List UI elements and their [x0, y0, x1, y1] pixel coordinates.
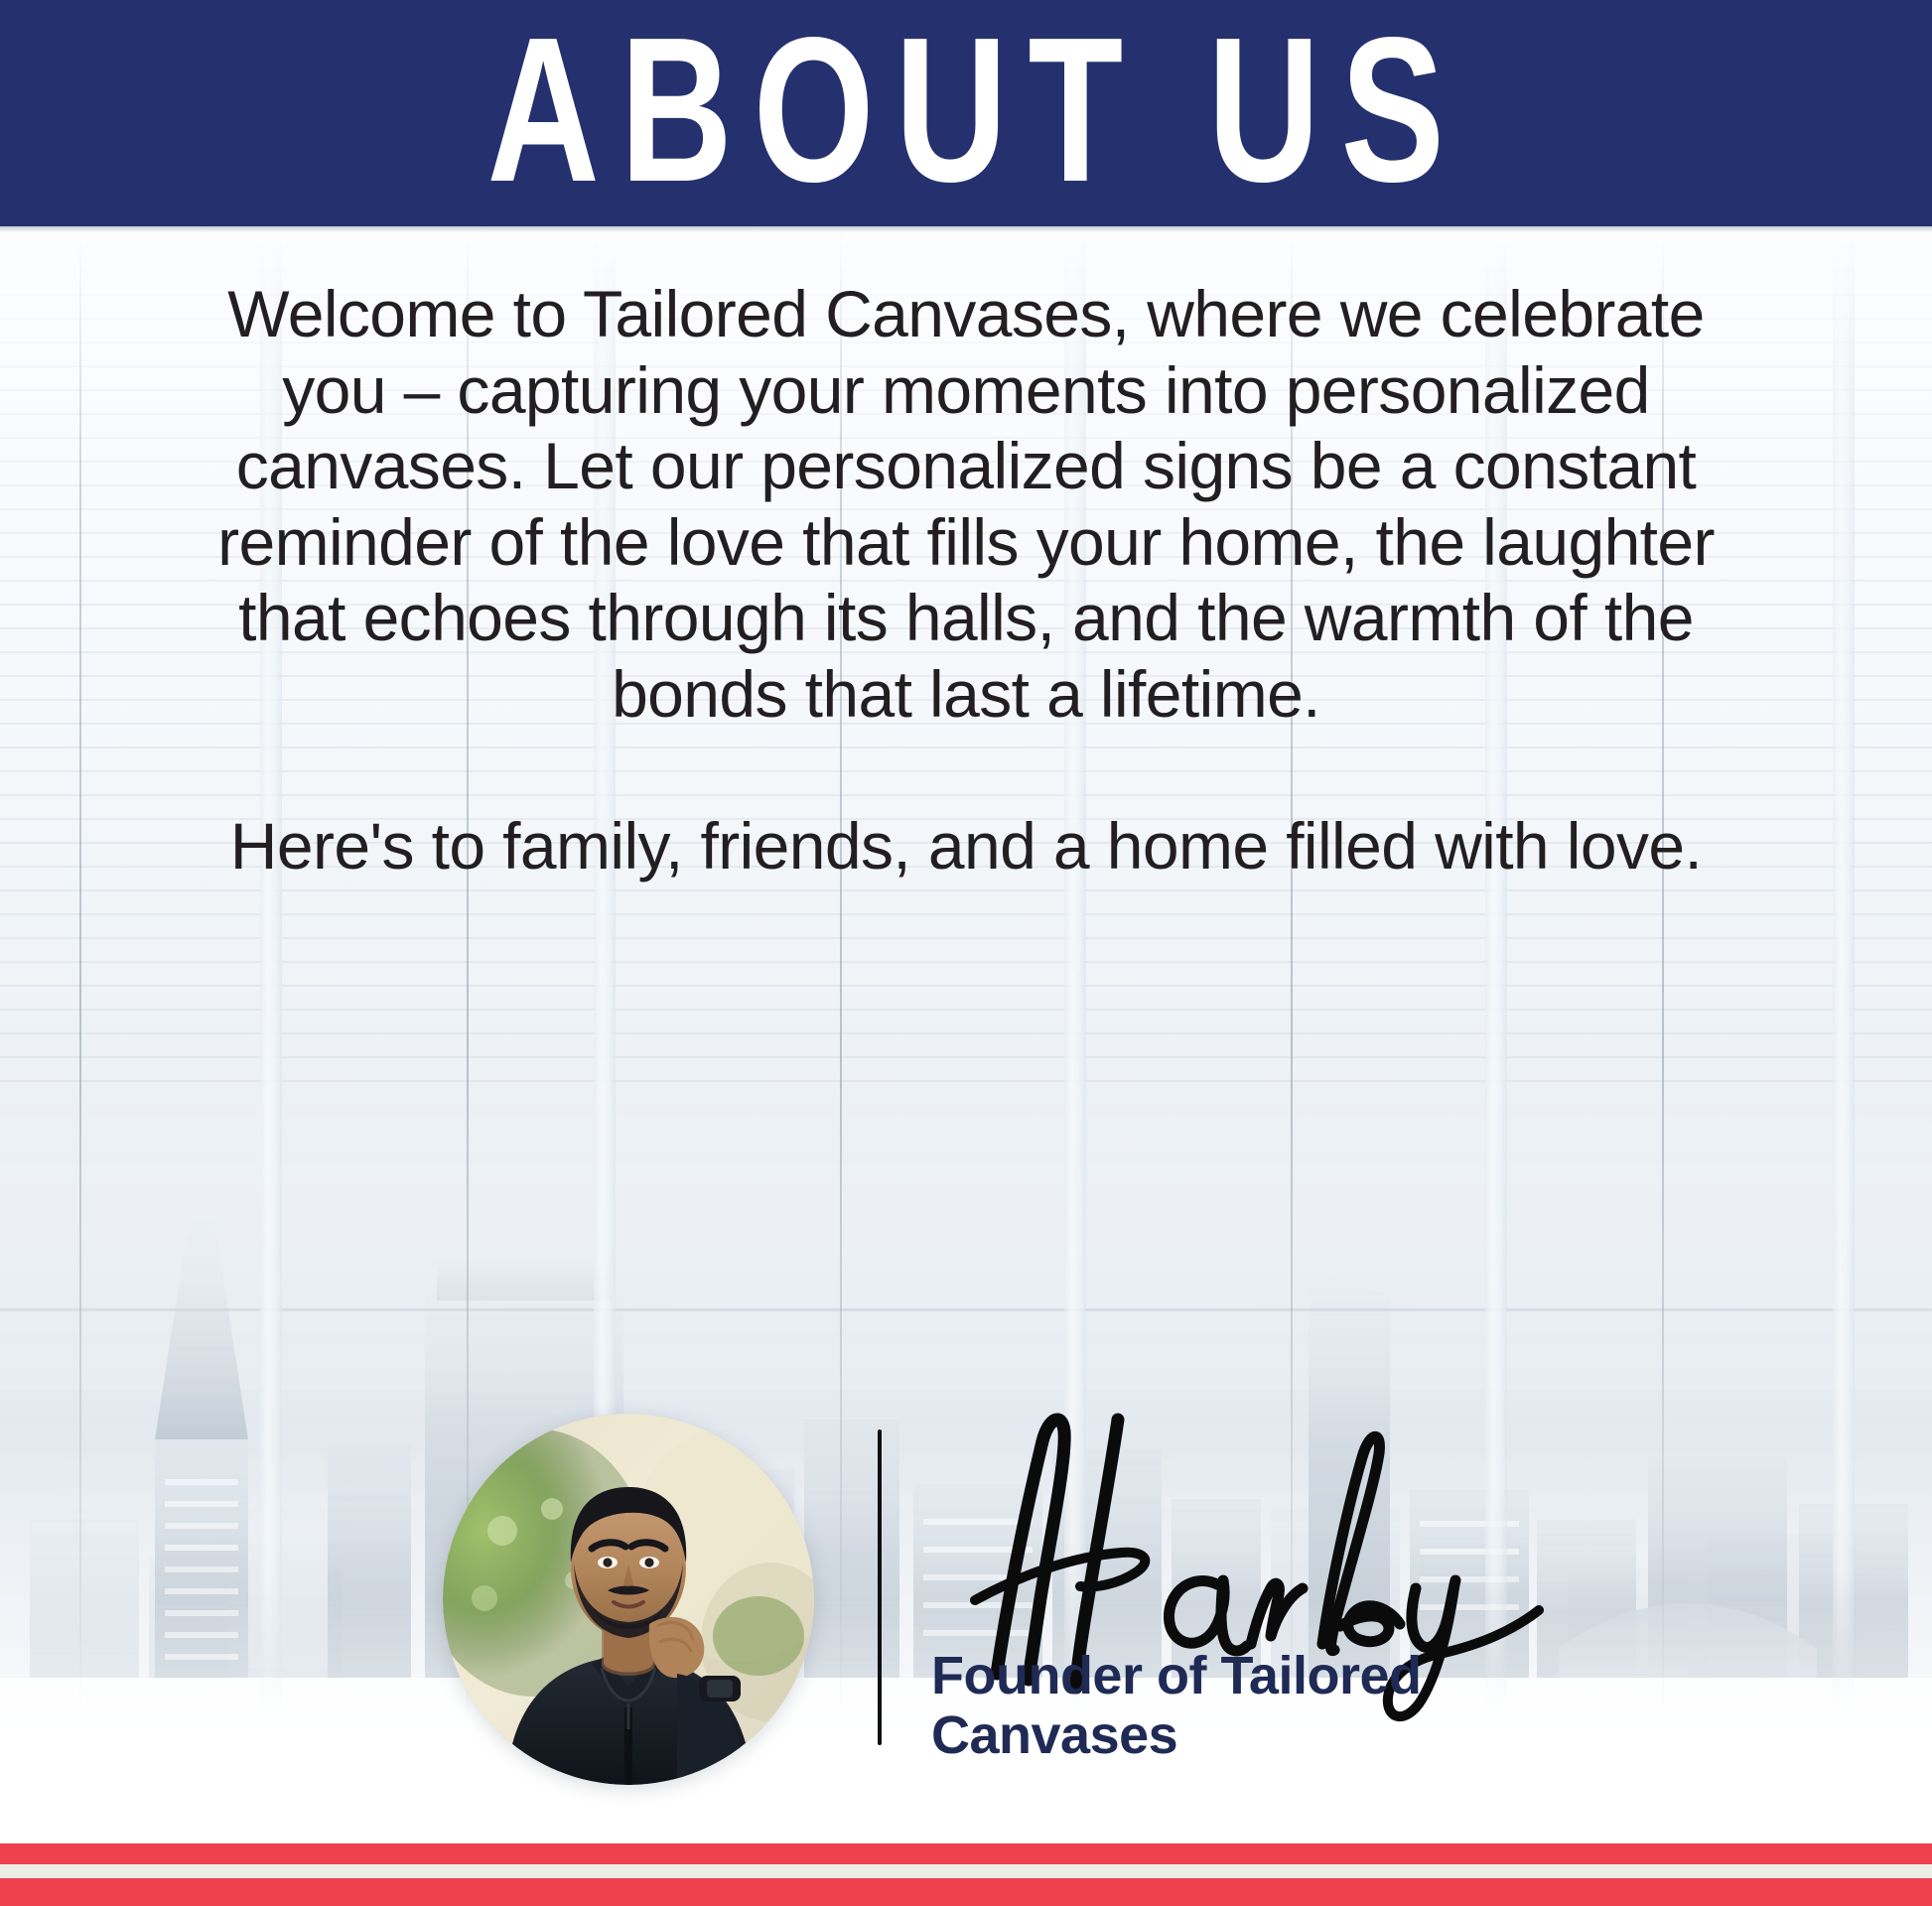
- role-line-2: Canvases: [931, 1705, 1646, 1765]
- about-us-poster: ABOUT US Welcome to Tailored Canvases, w…: [0, 0, 1932, 1906]
- founder-signature-block: Founder of Tailored Canvases: [0, 1390, 1932, 1827]
- window-sill-line: [0, 1308, 1932, 1311]
- signature-divider: [878, 1429, 882, 1745]
- footer-stripe-lower: [0, 1878, 1932, 1906]
- footer-stripe-gap: [0, 1864, 1932, 1878]
- founder-role: Founder of Tailored Canvases: [931, 1646, 1646, 1766]
- about-copy: Welcome to Tailored Canvases, where we c…: [194, 276, 1738, 884]
- header-band: ABOUT US: [0, 0, 1932, 226]
- page-title: ABOUT US: [467, 7, 1465, 213]
- avatar: [443, 1414, 814, 1785]
- about-paragraph-1: Welcome to Tailored Canvases, where we c…: [194, 276, 1738, 732]
- footer-stripe-upper: [0, 1843, 1932, 1864]
- about-paragraph-2: Here's to family, friends, and a home fi…: [194, 808, 1738, 885]
- role-line-1: Founder of Tailored: [931, 1646, 1646, 1705]
